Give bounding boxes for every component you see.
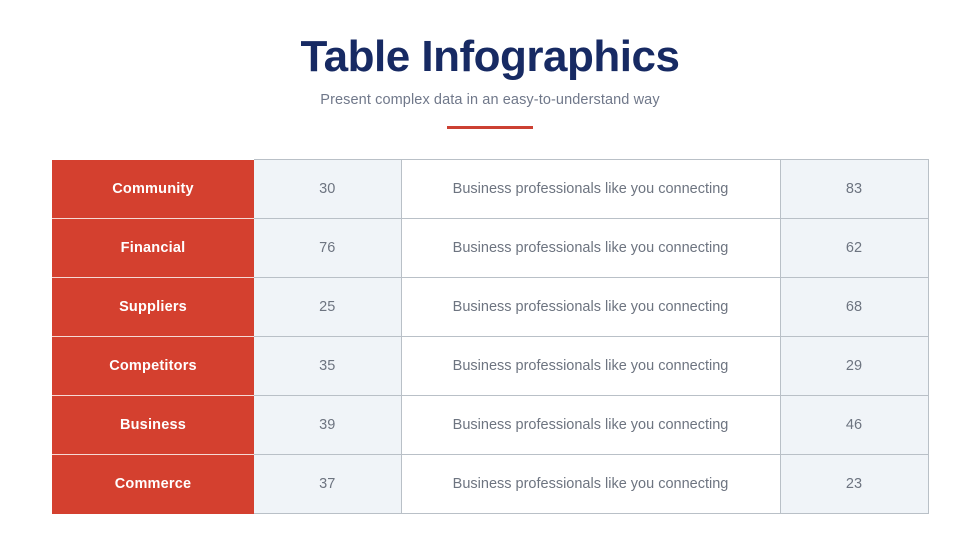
row-label-cell: Financial [52, 219, 254, 278]
row-metric-b-cell: 46 [780, 396, 928, 455]
row-description-cell: Business professionals like you connecti… [401, 337, 780, 396]
accent-divider [447, 126, 533, 129]
row-label-cell: Community [52, 160, 254, 219]
row-metric-a-cell: 37 [254, 455, 401, 514]
page-subtitle: Present complex data in an easy-to-under… [0, 92, 980, 108]
table-row[interactable]: Commerce37Business professionals like yo… [52, 455, 928, 514]
row-description-cell: Business professionals like you connecti… [401, 396, 780, 455]
row-description-cell: Business professionals like you connecti… [401, 219, 780, 278]
table-row[interactable]: Business39Business professionals like yo… [52, 396, 928, 455]
row-metric-b-cell: 83 [780, 160, 928, 219]
row-metric-b-cell: 29 [780, 337, 928, 396]
row-description-cell: Business professionals like you connecti… [401, 455, 780, 514]
slide-canvas: Table Infographics Present complex data … [0, 0, 980, 551]
row-label-cell: Competitors [52, 337, 254, 396]
row-metric-a-cell: 76 [254, 219, 401, 278]
table-body: Community30Business professionals like y… [52, 160, 928, 514]
row-label-cell: Suppliers [52, 278, 254, 337]
row-metric-b-cell: 62 [780, 219, 928, 278]
row-label-cell: Commerce [52, 455, 254, 514]
page-title: Table Infographics [0, 34, 980, 80]
row-description-cell: Business professionals like you connecti… [401, 278, 780, 337]
table-container: Community30Business professionals like y… [52, 159, 928, 514]
infographic-table: Community30Business professionals like y… [52, 159, 929, 514]
row-metric-a-cell: 39 [254, 396, 401, 455]
table-row[interactable]: Financial76Business professionals like y… [52, 219, 928, 278]
row-metric-a-cell: 30 [254, 160, 401, 219]
row-metric-b-cell: 23 [780, 455, 928, 514]
table-row[interactable]: Community30Business professionals like y… [52, 160, 928, 219]
row-metric-b-cell: 68 [780, 278, 928, 337]
slide-header: Table Infographics Present complex data … [0, 0, 980, 129]
table-row[interactable]: Suppliers25Business professionals like y… [52, 278, 928, 337]
row-metric-a-cell: 35 [254, 337, 401, 396]
table-row[interactable]: Competitors35Business professionals like… [52, 337, 928, 396]
row-description-cell: Business professionals like you connecti… [401, 160, 780, 219]
row-label-cell: Business [52, 396, 254, 455]
row-metric-a-cell: 25 [254, 278, 401, 337]
